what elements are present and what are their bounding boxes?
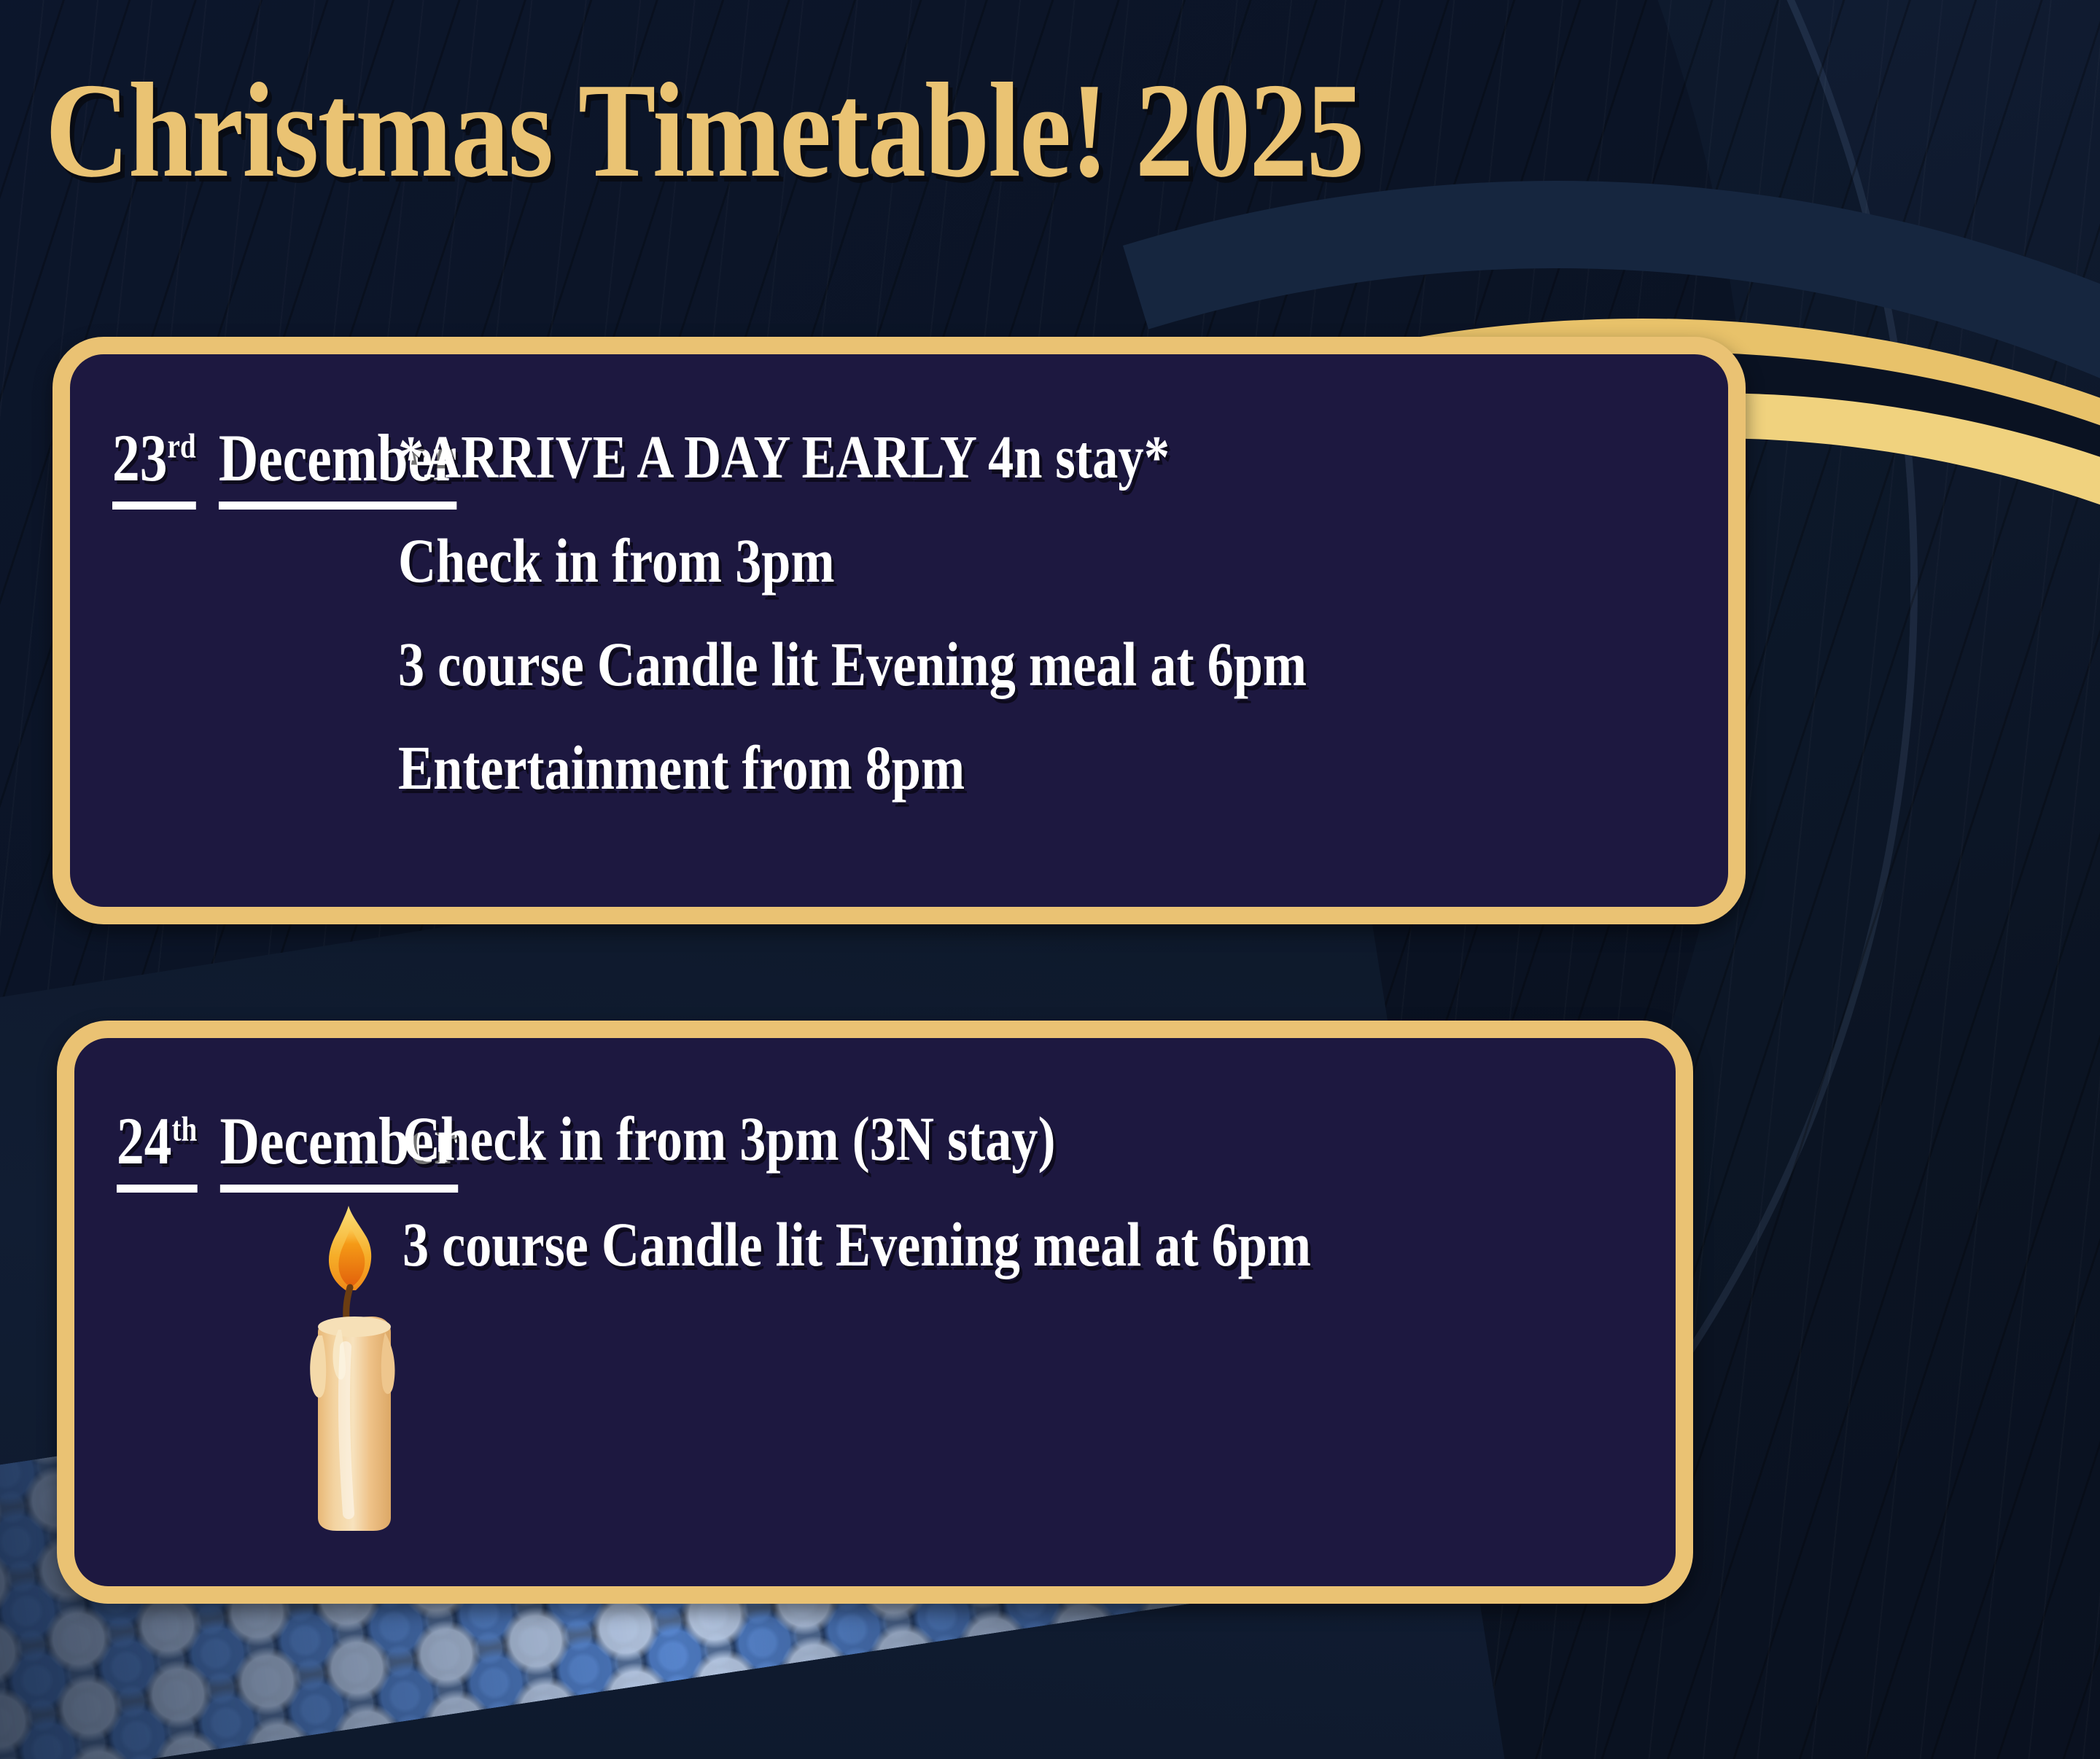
card-inner-23: 23rdDecember *ARRIVE A DAY EARLY 4n stay… (70, 354, 1728, 907)
page-title: Christmas Timetable!2025 (45, 63, 1364, 198)
candle-icon (293, 1204, 417, 1540)
day-ordinal-suffix: th (171, 1109, 197, 1148)
candle-drip-left (310, 1335, 326, 1397)
candle-body (318, 1317, 391, 1531)
candle-highlight (344, 1347, 349, 1513)
page-title-year: 2025 (1108, 55, 1364, 206)
day-number-23: 23rd (112, 424, 196, 510)
day-number-value: 23 (112, 421, 167, 495)
card-24-line-2: 3 course Candle lit Evening meal at 6pm (402, 1213, 1311, 1276)
timetable-card-24-december: 24thDecember Check in from 3pm (3N stay)… (57, 1021, 1693, 1604)
day-ordinal-suffix: rd (167, 426, 195, 465)
page-title-main: Christmas Timetable! (45, 55, 1108, 206)
candle-wick (346, 1287, 350, 1318)
card-23-line-3: 3 course Candle lit Evening meal at 6pm (398, 633, 1307, 695)
day-number-24: 24th (117, 1107, 197, 1193)
card-inner-24: 24thDecember Check in from 3pm (3N stay)… (74, 1038, 1676, 1586)
candle-top-rim (318, 1317, 391, 1337)
card-23-line-2: Check in from 3pm (398, 529, 835, 592)
timetable-card-23-december: 23rdDecember *ARRIVE A DAY EARLY 4n stay… (52, 337, 1746, 924)
candle-drip-right (381, 1333, 395, 1394)
card-24-line-1: Check in from 3pm (3N stay) (402, 1107, 1056, 1170)
day-number-value: 24 (117, 1104, 171, 1178)
card-23-line-1: *ARRIVE A DAY EARLY 4n stay* (398, 427, 1170, 488)
card-23-line-4: Entertainment from 8pm (398, 736, 965, 799)
christmas-timetable-poster: Christmas Timetable!2025 23rdDecember *A… (0, 0, 2100, 1759)
